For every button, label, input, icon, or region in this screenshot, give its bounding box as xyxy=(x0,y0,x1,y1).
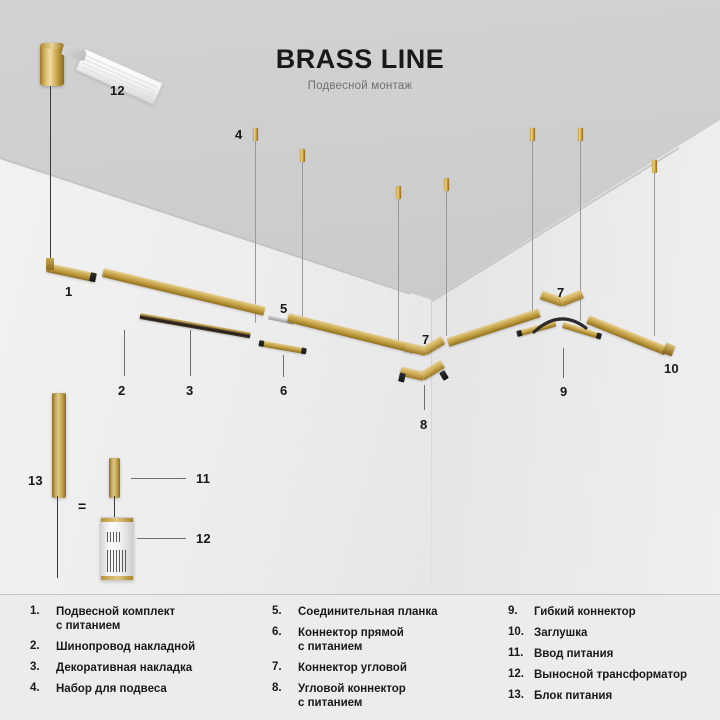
leader-line-6 xyxy=(283,355,284,377)
legend-item-label: Коннектор угловой xyxy=(298,661,407,675)
legend-item: 8.Угловой коннекторс питанием xyxy=(272,682,502,710)
legend-item-label: Ввод питания xyxy=(534,647,613,661)
legend-item-number: 6. xyxy=(272,626,298,654)
callout-10: 10 xyxy=(664,362,679,375)
room-scene: = 12 1 4 xyxy=(0,0,720,595)
legend-item-number: 9. xyxy=(508,605,534,619)
legend-item: 4.Набор для подвеса xyxy=(30,682,270,696)
callout-8: 8 xyxy=(420,418,427,431)
legend-item-label: Угловой коннекторс питанием xyxy=(298,682,406,710)
legend-item-label: Соединительная планка xyxy=(298,605,438,619)
suspension-cable xyxy=(446,191,447,336)
angled-connector-with-power xyxy=(400,370,446,386)
equals-sign: = xyxy=(78,498,86,514)
legend-item-label: Гибкий коннектор xyxy=(534,605,636,619)
legend-item-number: 11. xyxy=(508,647,534,661)
legend-item-label: Блок питания xyxy=(534,689,612,703)
callout-9: 9 xyxy=(560,385,567,398)
flexible-connector-arc xyxy=(530,306,590,336)
leader-line-8 xyxy=(424,385,425,410)
ceiling-anchor-icon xyxy=(253,128,258,141)
suspension-cable-main xyxy=(50,86,51,268)
page-subtitle: Подвесной монтаж xyxy=(0,80,720,92)
legend-item-number: 3. xyxy=(30,661,56,675)
legend-item: 12.Выносной трансформатор xyxy=(508,668,718,682)
callout-4: 4 xyxy=(235,128,242,141)
product-diagram-page: = 12 1 4 xyxy=(0,0,720,720)
suspension-kit-bracket xyxy=(46,258,54,270)
legend-item-label: Выносной трансформатор xyxy=(534,668,687,682)
power-end-cap xyxy=(398,372,406,382)
legend-item-number: 5. xyxy=(272,605,298,619)
legend-item-number: 13. xyxy=(508,689,534,703)
legend-item-number: 2. xyxy=(30,640,56,654)
corner-connector xyxy=(404,345,444,361)
legend-column-2: 5.Соединительная планка6.Коннектор прямо… xyxy=(272,605,502,717)
legend-item-number: 10. xyxy=(508,626,534,640)
callout-11: 11 xyxy=(196,472,210,485)
leader-line-12 xyxy=(137,538,186,539)
callout-13: 13 xyxy=(28,474,43,487)
legend-item: 11.Ввод питания xyxy=(508,647,718,661)
legend-item-number: 8. xyxy=(272,682,298,710)
legend-column-1: 1.Подвесной комплектс питанием2.Шинопров… xyxy=(30,605,270,703)
callout-7-left: 7 xyxy=(422,333,429,346)
callout-1: 1 xyxy=(65,285,72,298)
remote-transformer-unit xyxy=(100,517,134,581)
legend-item-label: Набор для подвеса xyxy=(56,682,167,696)
ceiling-anchor-icon xyxy=(530,128,535,141)
legend-item-number: 4. xyxy=(30,682,56,696)
legend-item-label: Шинопровод накладной xyxy=(56,640,195,654)
leader-line-9 xyxy=(563,348,564,378)
legend-item-number: 1. xyxy=(30,605,56,633)
legend-item: 10.Заглушка xyxy=(508,626,718,640)
legend-item: 6.Коннектор прямойс питанием xyxy=(272,626,502,654)
legend-item-label: Коннектор прямойс питанием xyxy=(298,626,404,654)
leader-line-11 xyxy=(131,478,186,479)
legend-item-label: Подвесной комплектс питанием xyxy=(56,605,175,633)
legend-item-label: Декоративная накладка xyxy=(56,661,192,675)
legend-item: 1.Подвесной комплектс питанием xyxy=(30,605,270,633)
legend-item-number: 12. xyxy=(508,668,534,682)
legend-item: 9.Гибкий коннектор xyxy=(508,605,718,619)
legend: 1.Подвесной комплектс питанием2.Шинопров… xyxy=(0,595,720,720)
ceiling-anchor-icon xyxy=(396,186,401,199)
callout-7-right: 7 xyxy=(557,286,564,299)
callout-3: 3 xyxy=(186,384,193,397)
legend-item: 7.Коннектор угловой xyxy=(272,661,502,675)
flex-end-cap xyxy=(516,330,522,337)
legend-item: 2.Шинопровод накладной xyxy=(30,640,270,654)
suspension-cable xyxy=(255,141,256,323)
page-title: BRASS LINE xyxy=(0,44,720,75)
ceiling-anchor-icon xyxy=(652,160,657,173)
leader-line-3 xyxy=(190,330,191,376)
legend-item-label: Заглушка xyxy=(534,626,587,640)
connector-end-cap xyxy=(258,340,264,347)
ceiling-anchor-icon xyxy=(300,149,305,162)
suspension-cable xyxy=(398,199,399,347)
power-block-lead xyxy=(57,496,58,578)
callout-6: 6 xyxy=(280,384,287,397)
ceiling-anchor-icon xyxy=(578,128,583,141)
legend-item-number: 7. xyxy=(272,661,298,675)
suspension-cable xyxy=(532,141,533,317)
ceiling-anchor-icon xyxy=(444,178,449,191)
legend-item: 13.Блок питания xyxy=(508,689,718,703)
suspension-cable xyxy=(302,162,303,326)
suspension-cable xyxy=(654,173,655,336)
callout-5: 5 xyxy=(280,302,287,315)
connector-end-cap xyxy=(301,348,307,355)
leader-line-2 xyxy=(124,330,125,376)
legend-item: 5.Соединительная планка xyxy=(272,605,502,619)
legend-item: 3.Декоративная накладка xyxy=(30,661,270,675)
callout-2: 2 xyxy=(118,384,125,397)
legend-column-3: 9.Гибкий коннектор10.Заглушка11.Ввод пит… xyxy=(508,605,718,710)
power-supply-block xyxy=(52,393,66,498)
callout-12-bottom: 12 xyxy=(196,532,211,545)
power-input-connector xyxy=(109,458,120,498)
